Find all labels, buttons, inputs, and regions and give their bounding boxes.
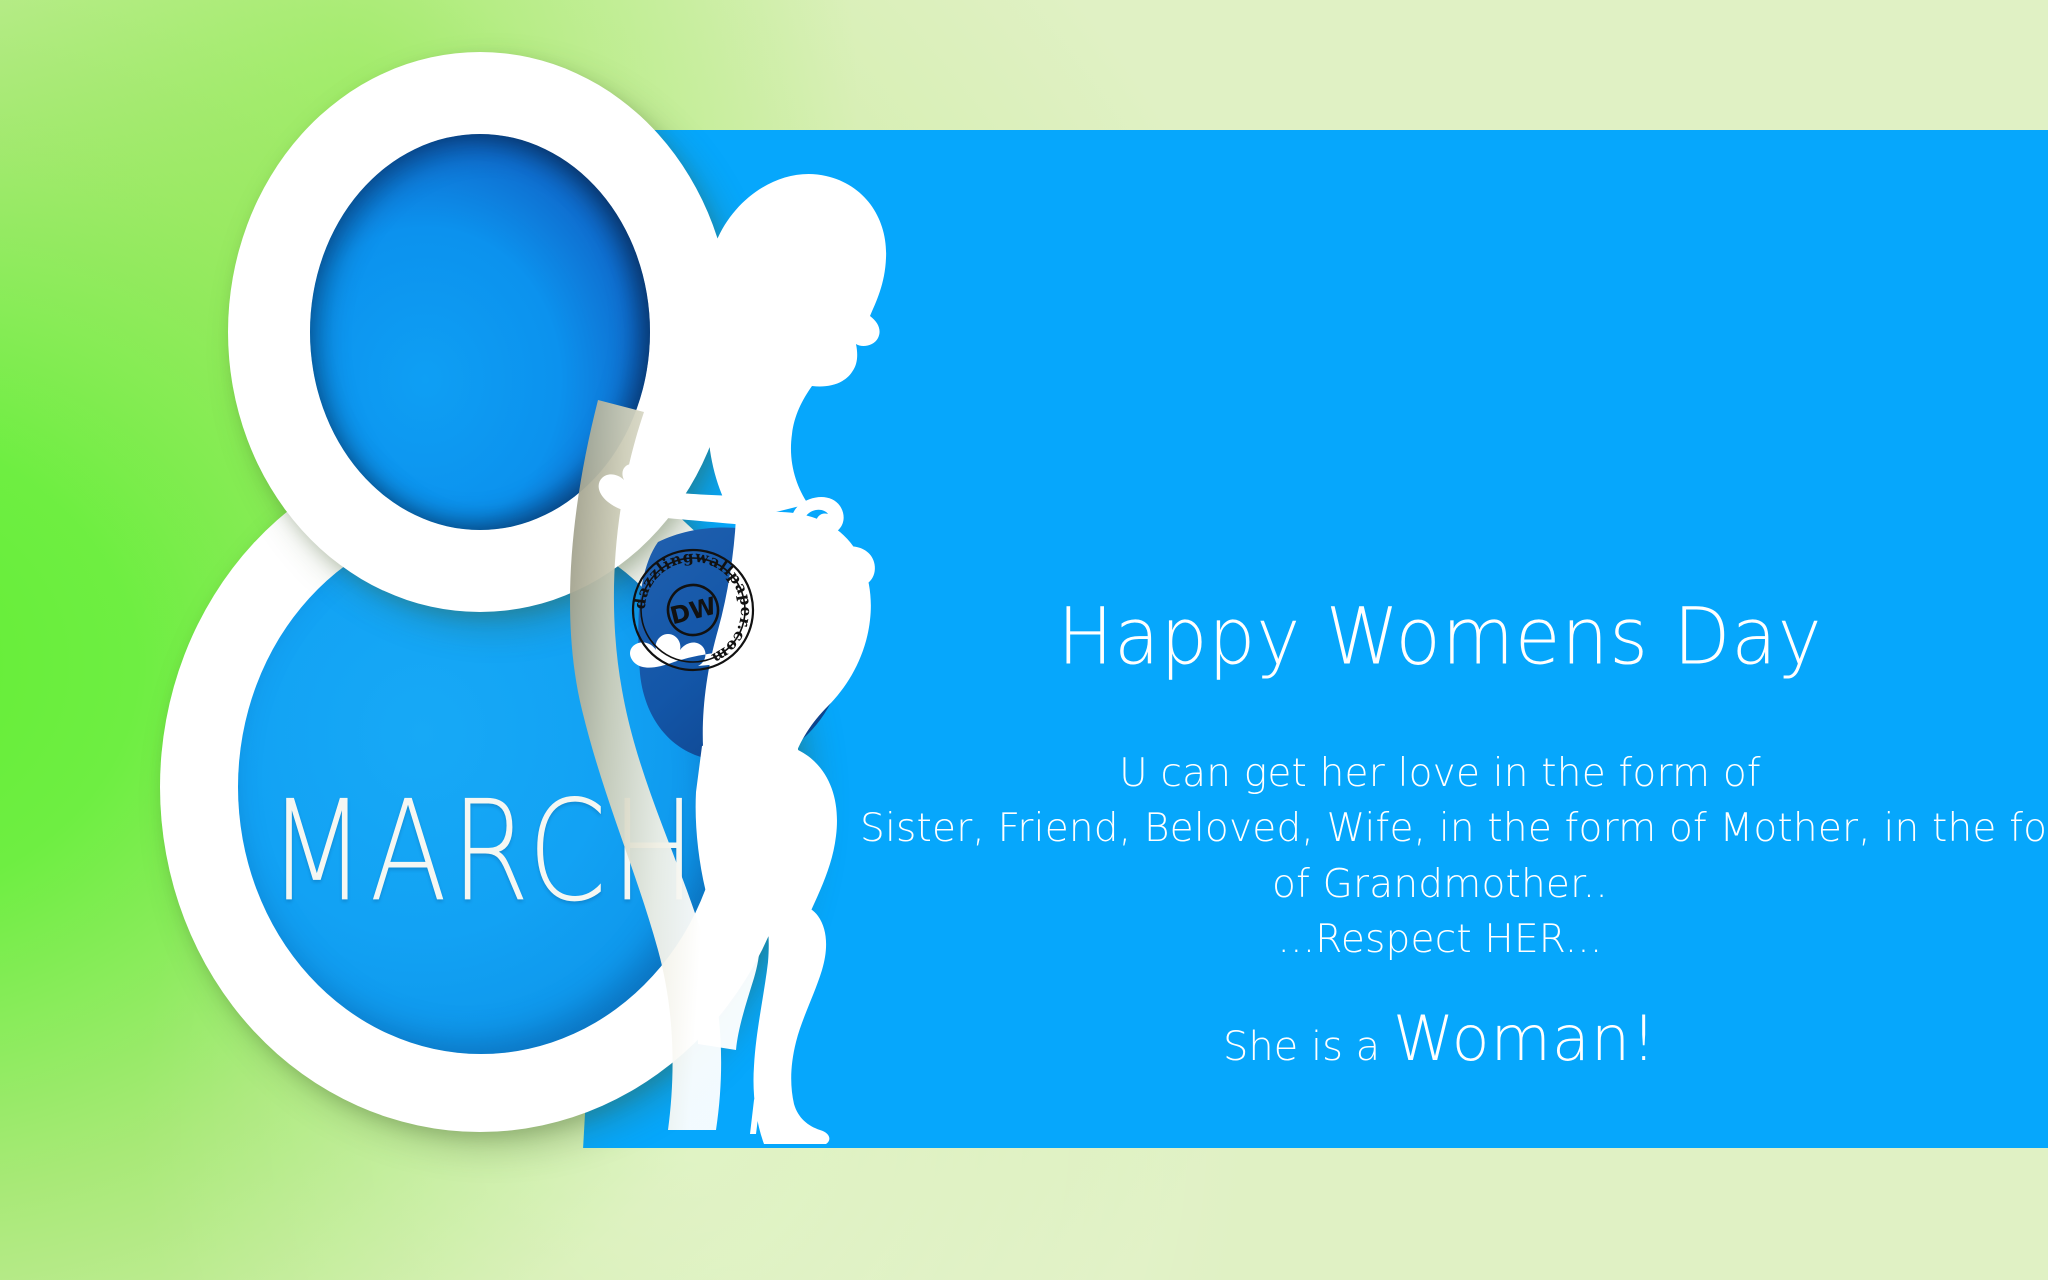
- body-line-2: Sister, Friend, Beloved, Wife, in the fo…: [860, 801, 2020, 856]
- body-line-4: ...Respect HER...: [860, 912, 2020, 967]
- headline: Happy Womens Day: [860, 598, 2020, 676]
- message-block: Happy Womens Day U can get her love in t…: [860, 600, 2020, 1075]
- body-line-1: U can get her love in the form of: [860, 746, 2020, 801]
- closing-prefix: She is a: [1223, 1024, 1393, 1070]
- body-text: U can get her love in the form of Sister…: [860, 746, 2020, 968]
- closing-line: She is a Woman!: [860, 1002, 2020, 1075]
- poster-canvas: MARCH: [0, 0, 2048, 1280]
- body-line-3: of Grandmother..: [860, 857, 2020, 912]
- watermark-monogram: DW: [667, 592, 719, 630]
- closing-emphasis: Woman!: [1393, 1002, 1657, 1075]
